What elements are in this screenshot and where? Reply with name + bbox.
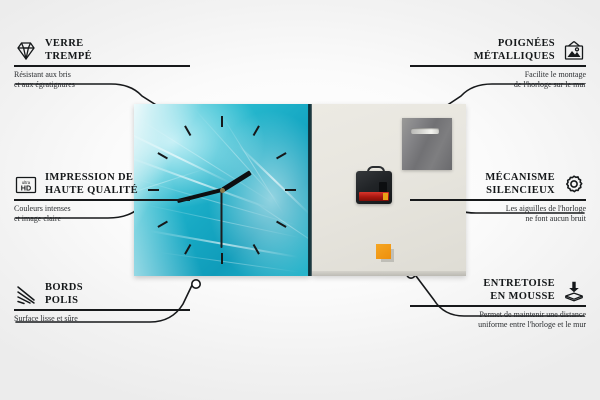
polished-edges-icon — [14, 283, 38, 307]
feature-poignees-metalliques: POIGNÉES MÉTALLIQUES Facilite le montage… — [410, 38, 586, 91]
feature-title: IMPRESSION DE HAUTE QUALITÉ — [45, 172, 138, 197]
hour-tick — [184, 244, 191, 255]
clock-hour-hand — [221, 170, 252, 192]
hour-tick — [221, 253, 223, 264]
gear-icon — [562, 173, 586, 197]
product-infographic: VERRE TREMPÉ Résistant aux bris et aux é… — [0, 0, 600, 400]
feature-verre-trempe: VERRE TREMPÉ Résistant aux bris et aux é… — [14, 38, 190, 91]
feature-description: Surface lisse et sûre — [14, 311, 190, 325]
feature-description: Les aiguilles de l'horloge ne font aucun… — [410, 201, 586, 225]
hour-tick — [253, 125, 260, 136]
svg-text:HD: HD — [21, 183, 31, 192]
mechanism-slot — [379, 182, 387, 192]
clock-mechanism — [356, 166, 392, 204]
feature-header: ENTRETOISE EN MOUSSE — [410, 278, 586, 305]
mechanism-body — [356, 171, 392, 204]
feature-title: VERRE TREMPÉ — [45, 38, 92, 63]
feature-description: Couleurs intenses et image claire — [14, 201, 190, 225]
feature-title: ENTRETOISE EN MOUSSE — [483, 278, 555, 303]
clock-center-cap — [220, 188, 225, 193]
feature-description: Facilite le montage de l'horloge sur le … — [410, 67, 586, 91]
feature-header: MÉCANISME SILENCIEUX — [410, 172, 586, 199]
feature-title: BORDS POLIS — [45, 282, 83, 307]
feature-entretoise-en-mousse: ENTRETOISE EN MOUSSE Permet de maintenir… — [410, 278, 586, 331]
feature-header: VERRE TREMPÉ — [14, 38, 190, 65]
picture-frame-hanger-icon — [562, 39, 586, 63]
feature-header: POIGNÉES MÉTALLIQUES — [410, 38, 586, 65]
foam-spacer-pad — [376, 244, 391, 259]
hanger-slot — [411, 128, 439, 134]
feature-title: POIGNÉES MÉTALLIQUES — [474, 38, 555, 63]
feature-header: ultra HD IMPRESSION DE HAUTE QUALITÉ — [14, 172, 190, 199]
hour-tick — [276, 221, 287, 228]
hour-tick — [253, 244, 260, 255]
clock-second-hand — [221, 190, 223, 248]
feature-title: MÉCANISME SILENCIEUX — [485, 172, 555, 197]
feature-bords-polis: BORDS POLIS Surface lisse et sûre — [14, 282, 190, 324]
feature-description: Résistant aux bris et aux égratignures — [14, 67, 190, 91]
battery — [359, 192, 389, 201]
connector-dot-bords — [192, 280, 200, 288]
hour-tick — [157, 152, 168, 159]
diamond-icon — [14, 39, 38, 63]
hour-tick — [184, 125, 191, 136]
metal-hanger-plate — [402, 118, 452, 170]
feature-impression-haute-qualite: ultra HD IMPRESSION DE HAUTE QUALITÉ Cou… — [14, 172, 190, 225]
hour-tick — [285, 189, 296, 191]
foam-spacer-arrow-icon — [562, 279, 586, 303]
hour-tick — [221, 116, 223, 127]
ultra-hd-icon: ultra HD — [14, 173, 38, 197]
feature-description: Permet de maintenir une distance uniform… — [410, 307, 586, 331]
feature-mecanisme-silencieux: MÉCANISME SILENCIEUX Les aiguilles de l'… — [410, 172, 586, 225]
hour-tick — [276, 152, 287, 159]
feature-header: BORDS POLIS — [14, 282, 190, 309]
